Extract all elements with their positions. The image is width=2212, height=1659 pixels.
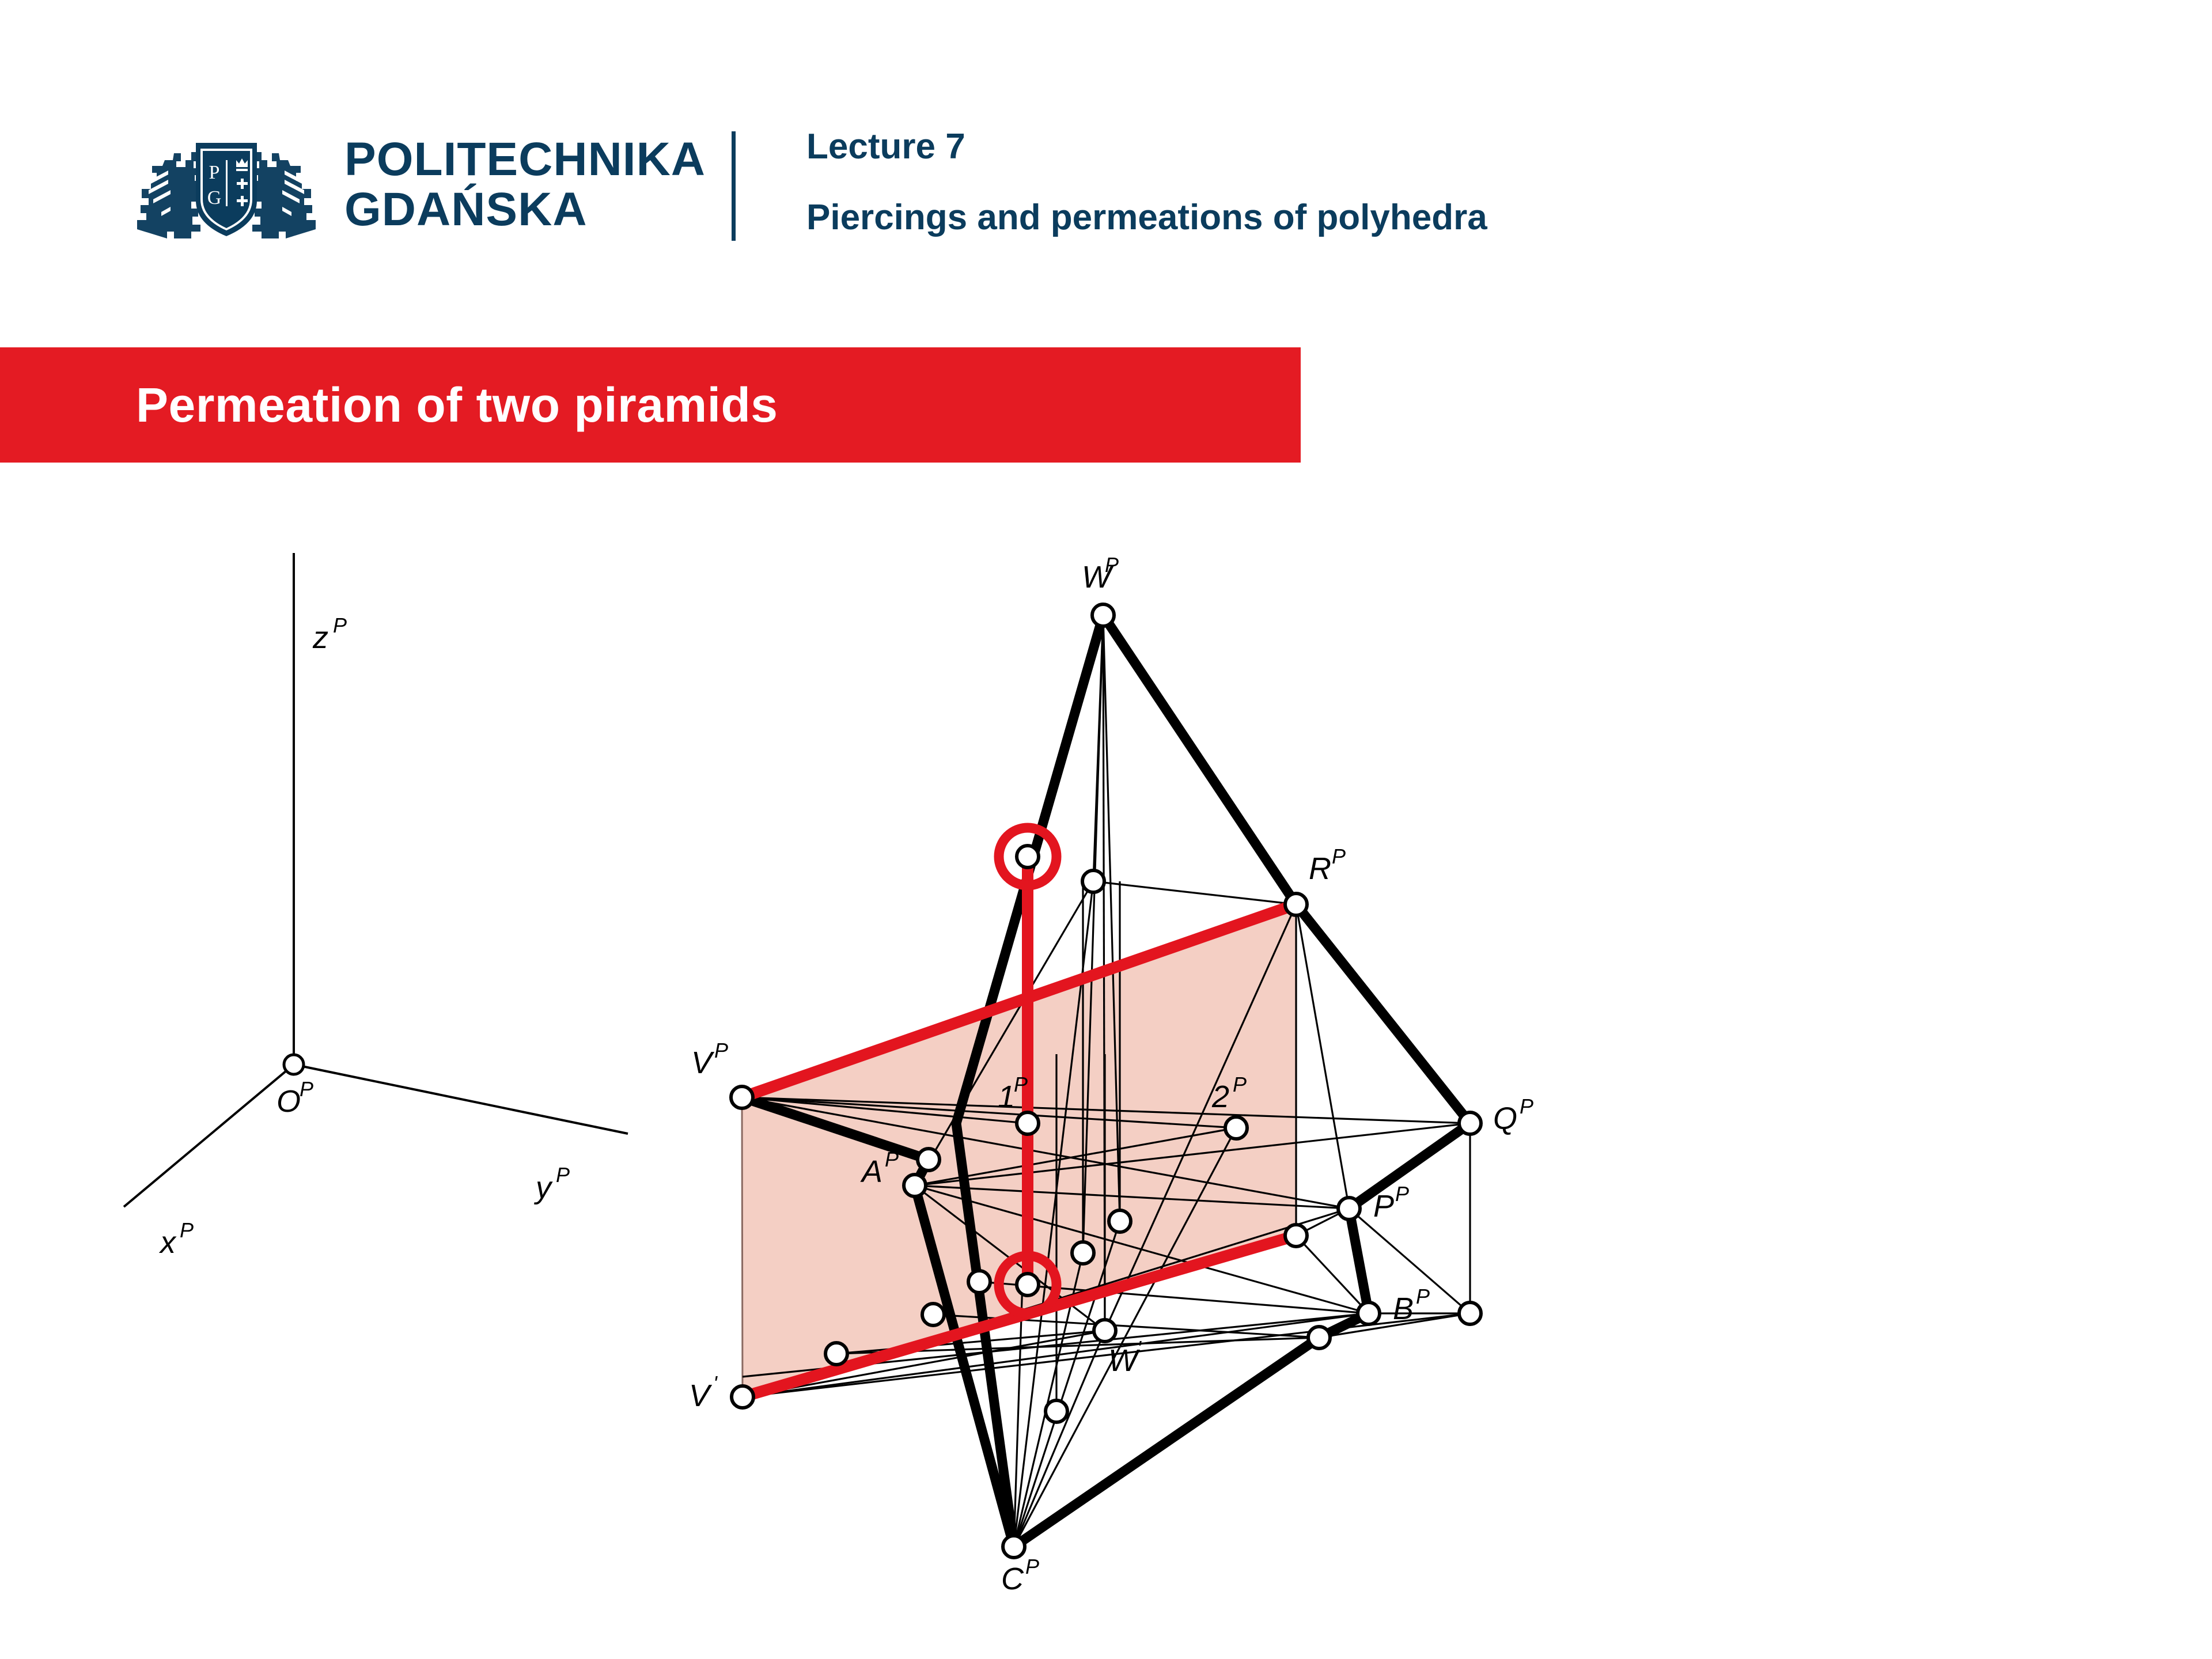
- crest-letter-g: G: [207, 187, 222, 209]
- label-W-P-sup: P: [1105, 553, 1119, 577]
- label-C-P: C: [1001, 1562, 1024, 1596]
- origin-label-sup: P: [300, 1077, 313, 1101]
- vertex-marker: [1094, 1320, 1116, 1342]
- vertex-marker: [968, 1271, 990, 1293]
- university-name: POLITECHNIKA GDAŃSKA: [344, 135, 706, 235]
- coordinate-axes: z P y P x P O P: [124, 553, 628, 1260]
- label-B-P: B: [1393, 1291, 1414, 1326]
- header-divider: [732, 131, 736, 241]
- label-P-P-sup: P: [1395, 1182, 1409, 1206]
- label-P-P: P: [1373, 1189, 1394, 1224]
- cutting-plane-fill: [742, 904, 1296, 1397]
- label-C-P-sup: P: [1025, 1555, 1039, 1578]
- label-V-prime-sup: ': [713, 1372, 718, 1395]
- vertex-marker: [731, 1086, 753, 1108]
- label-W-prime: W: [1108, 1343, 1141, 1378]
- label-Q-P: Q: [1493, 1101, 1517, 1136]
- label-W-prime-sup: ': [1137, 1336, 1142, 1360]
- slide-title-banner: Permeation of two piramids: [0, 347, 1301, 463]
- technical-drawing: z P y P x P O P: [0, 478, 2212, 1659]
- vertex-marker: [918, 1149, 940, 1171]
- vertex-marker: [1459, 1112, 1481, 1134]
- label-2-P: 2: [1211, 1080, 1229, 1114]
- vertex-marker: [1072, 1242, 1094, 1264]
- axis-x-label: x: [158, 1225, 177, 1260]
- piercing-point-marker: [1017, 1274, 1039, 1296]
- solid-edge: [1296, 904, 1470, 1123]
- piercing-point-marker: [1017, 846, 1039, 868]
- axis-x-line: [124, 1065, 294, 1207]
- intersection-point-marker: [1017, 1112, 1039, 1134]
- intersection-point-marker: [1225, 1117, 1247, 1139]
- vertex-marker: [1459, 1302, 1481, 1324]
- axis-y-line: [294, 1065, 628, 1134]
- vertex-marker: [732, 1386, 753, 1408]
- construction-line: [1093, 881, 1296, 904]
- axis-z-label-sup: P: [333, 613, 347, 637]
- solid-edge: [1349, 1123, 1470, 1209]
- label-V-P-sup: P: [714, 1039, 728, 1062]
- vertex-marker: [1109, 1210, 1131, 1232]
- label-V-P: V: [691, 1046, 715, 1080]
- pg-crest-icon: P G: [131, 126, 321, 244]
- vertex-marker: [1092, 604, 1114, 626]
- solid-edge: [1349, 1209, 1369, 1313]
- axis-y-label-sup: P: [556, 1163, 570, 1187]
- label-B-P-sup: P: [1416, 1285, 1430, 1308]
- vertex-marker: [1082, 870, 1104, 892]
- label-V-prime: V: [689, 1378, 713, 1413]
- label-A-P: A: [860, 1154, 882, 1189]
- vertex-marker: [1308, 1327, 1330, 1349]
- label-2-P-sup: P: [1233, 1073, 1247, 1096]
- lecture-number: Lecture 7: [806, 126, 1487, 168]
- label-R-P: R: [1309, 851, 1331, 886]
- descriptive-geometry-figure: z P y P x P O P: [0, 478, 2212, 1659]
- plane-edge-left: [742, 1097, 743, 1397]
- label-A-P-sup: P: [885, 1147, 899, 1171]
- crest-letter-p: P: [209, 162, 220, 183]
- cutting-plane: [742, 904, 1296, 1397]
- slide-title: Permeation of two piramids: [136, 377, 778, 433]
- lecture-heading-block: Lecture 7 Piercings and permeations of p…: [806, 126, 1487, 238]
- vertex-marker: [825, 1343, 847, 1365]
- vertex-marker: [1338, 1198, 1360, 1219]
- vertex-marker: [1358, 1302, 1380, 1324]
- construction-line: [1296, 904, 1349, 1209]
- label-1-P-sup: P: [1014, 1073, 1028, 1096]
- vertex-marker: [904, 1175, 926, 1196]
- university-logo-block: P G POLITECHNIKA GDAŃSKA: [131, 126, 706, 244]
- origin-marker: [284, 1055, 304, 1074]
- vertex-marker: [1046, 1400, 1067, 1422]
- label-1-P: 1: [998, 1080, 1015, 1114]
- axis-x-label-sup: P: [180, 1218, 194, 1242]
- axis-z-label: z: [312, 620, 328, 655]
- vertex-marker: [1285, 893, 1307, 915]
- lecture-topic: Piercings and permeations of polyhedra: [806, 196, 1487, 238]
- axis-y-label: y: [533, 1171, 553, 1205]
- solid-edge: [1103, 615, 1296, 904]
- origin-label: O: [276, 1084, 301, 1119]
- vertex-marker: [1003, 1536, 1025, 1558]
- solid-edge: [1014, 1338, 1319, 1547]
- vertex-marker: [1285, 1225, 1307, 1247]
- page-header: P G POLITECHNIKA GDAŃSKA Lecture 7 Pierc…: [0, 0, 2212, 311]
- vertex-marker: [922, 1304, 944, 1325]
- label-R-P-sup: P: [1332, 844, 1346, 868]
- label-Q-P-sup: P: [1520, 1094, 1533, 1118]
